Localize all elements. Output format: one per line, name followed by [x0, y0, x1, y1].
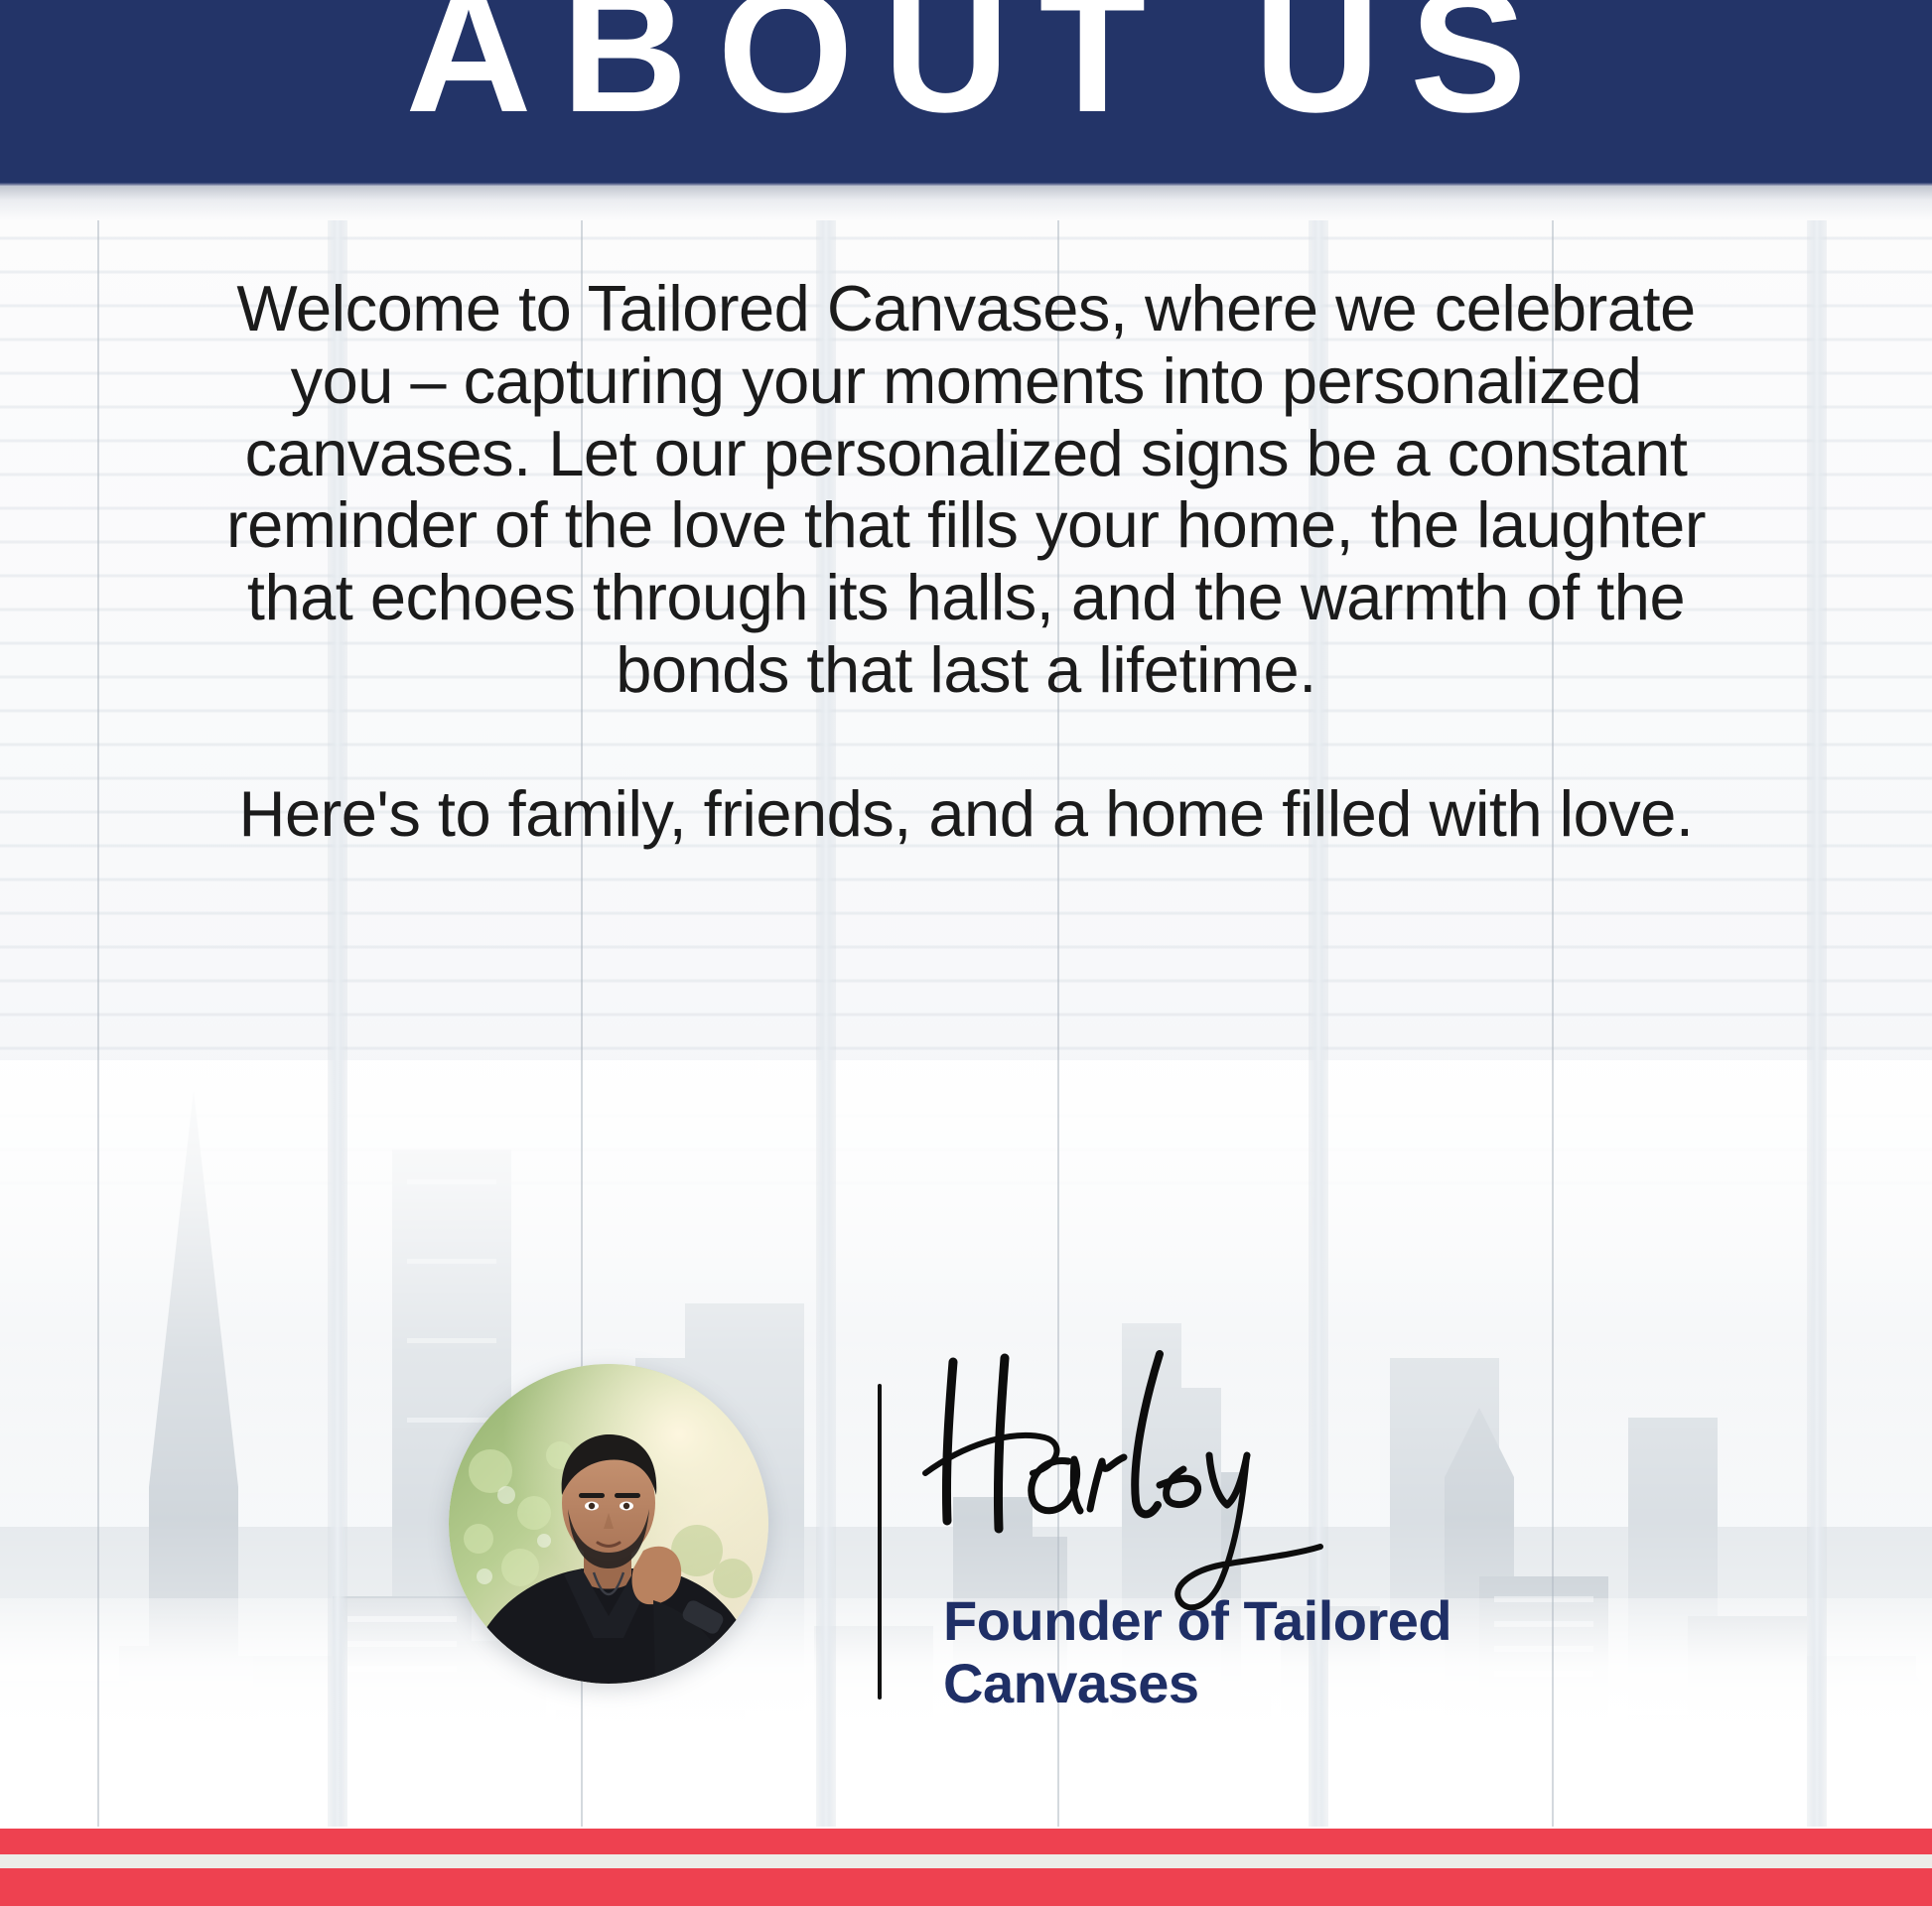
avatar — [449, 1364, 768, 1684]
footer-bar-top — [0, 1829, 1932, 1854]
founder-role: Founder of Tailored Canvases — [943, 1590, 1598, 1714]
signature-divider — [878, 1384, 882, 1700]
founder-role-line-2: Canvases — [943, 1653, 1598, 1715]
body-paragraph-2: Here's to family, friends, and a home fi… — [189, 778, 1743, 851]
banner-bottom-rule — [0, 183, 1932, 187]
banner-drop-shadow — [0, 187, 1932, 220]
footer-bar-bottom — [0, 1868, 1932, 1906]
about-us-poster: ABOUT US Welcome to Tailored Canvases, w… — [0, 0, 1932, 1906]
paragraph-spacer — [189, 707, 1743, 778]
about-us-body: Welcome to Tailored Canvases, where we c… — [189, 273, 1743, 851]
body-paragraph-1: Welcome to Tailored Canvases, where we c… — [189, 273, 1743, 707]
founder-role-line-1: Founder of Tailored — [943, 1590, 1598, 1653]
footer-bars — [0, 1829, 1932, 1906]
founder-signature — [894, 1334, 1588, 1622]
header-banner: ABOUT US — [0, 0, 1932, 183]
page-title: ABOUT US — [0, 0, 1932, 139]
footer-bar-gap — [0, 1854, 1932, 1868]
signature-block: Founder of Tailored Canvases — [0, 1364, 1932, 1781]
